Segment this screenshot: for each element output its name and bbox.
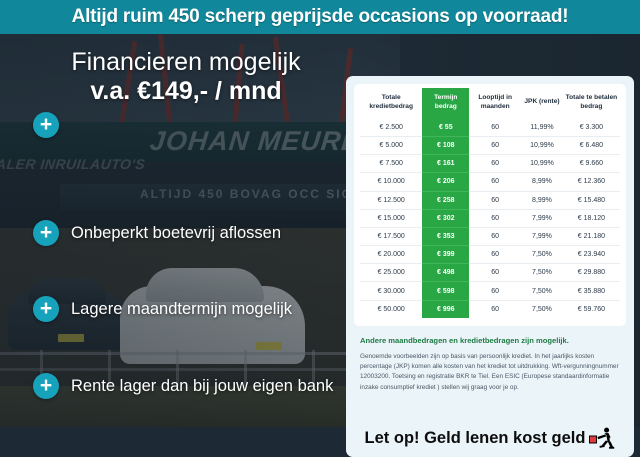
table-cell: € 59.760 — [563, 300, 620, 318]
table-cell: 7,50% — [521, 264, 563, 282]
finance-rates-table: Totale kredietbedrag Termijn bedrag Loop… — [360, 88, 620, 318]
running-man-icon — [589, 427, 615, 449]
banner-text: Altijd ruim 450 scherp geprijsde occasio… — [72, 6, 569, 28]
table-cell-highlighted: € 498 — [422, 264, 469, 282]
table-cell: 60 — [469, 246, 521, 264]
table-cell: 60 — [469, 155, 521, 173]
credit-warning: Let op! Geld lenen kost geld — [346, 427, 634, 449]
table-cell: € 12.500 — [360, 191, 422, 209]
disclaimer-section: Andere maandbedragen en kredietbedragen … — [354, 326, 626, 393]
plus-glyph: + — [40, 114, 52, 135]
table-row: € 20.000€ 399607,50%€ 23.940 — [360, 246, 620, 264]
promo-bullet-3: + Rente lager dan bij jouw eigen bank — [33, 373, 343, 399]
table-cell: € 29.880 — [563, 264, 620, 282]
table-cell: 60 — [469, 136, 521, 154]
table-header-cell: Totale kredietbedrag — [360, 88, 422, 119]
table-cell-highlighted: € 108 — [422, 136, 469, 154]
finance-info-panel: Totale kredietbedrag Termijn bedrag Loop… — [346, 76, 634, 457]
credit-warning-text: Let op! Geld lenen kost geld — [365, 429, 586, 448]
table-cell: € 15.480 — [563, 191, 620, 209]
table-row: € 7.500€ 1616010,99%€ 9.660 — [360, 155, 620, 173]
table-row: € 10.000€ 206608,99%€ 12.360 — [360, 173, 620, 191]
table-cell-highlighted: € 161 — [422, 155, 469, 173]
table-cell: 60 — [469, 264, 521, 282]
plus-icon: + — [33, 112, 59, 138]
plus-icon: + — [33, 220, 59, 246]
table-header-cell: Looptijd in maanden — [469, 88, 521, 119]
promo-left-column: + Financieren mogelijk v.a. €149,- / mnd… — [0, 34, 350, 427]
top-promo-banner: Altijd ruim 450 scherp geprijsde occasio… — [0, 0, 640, 34]
disclaimer-body: Genoemde voorbeelden zijn op basis van p… — [360, 352, 620, 394]
table-cell: 8,99% — [521, 191, 563, 209]
table-cell: 8,99% — [521, 173, 563, 191]
table-row: € 30.000€ 598607,50%€ 35.880 — [360, 282, 620, 300]
table-cell: € 21.180 — [563, 227, 620, 245]
table-cell: 11,99% — [521, 119, 563, 137]
table-cell: 60 — [469, 191, 521, 209]
table-cell: € 7.500 — [360, 155, 422, 173]
table-cell: 60 — [469, 227, 521, 245]
promo-bullet-label: Lagere maandtermijn mogelijk — [71, 300, 292, 319]
table-cell: 7,50% — [521, 300, 563, 318]
table-cell: 60 — [469, 119, 521, 137]
table-cell: € 15.000 — [360, 209, 422, 227]
table-cell-highlighted: € 399 — [422, 246, 469, 264]
table-cell: € 30.000 — [360, 282, 422, 300]
table-cell: 10,99% — [521, 136, 563, 154]
promo-bullet-2: + Lagere maandtermijn mogelijk — [33, 296, 343, 322]
table-cell: 7,50% — [521, 282, 563, 300]
table-cell: € 2.500 — [360, 119, 422, 137]
table-header-cell: Totale te betalen bedrag — [563, 88, 620, 119]
table-cell: € 18.120 — [563, 209, 620, 227]
main-content-area: JOHAN MEURE ALER INRUILAUTO'S ALTIJD 450… — [0, 34, 640, 427]
plus-icon: + — [33, 296, 59, 322]
table-cell: € 23.940 — [563, 246, 620, 264]
promo-headline-line2: v.a. €149,- / mnd — [32, 76, 340, 106]
finance-table-card: Totale kredietbedrag Termijn bedrag Loop… — [354, 84, 626, 326]
table-cell-highlighted: € 206 — [422, 173, 469, 191]
table-cell: € 50.000 — [360, 300, 422, 318]
disclaimer-title: Andere maandbedragen en kredietbedragen … — [360, 336, 620, 346]
table-cell-highlighted: € 258 — [422, 191, 469, 209]
table-row: € 15.000€ 302607,99%€ 18.120 — [360, 209, 620, 227]
table-header-cell-highlighted: Termijn bedrag — [422, 88, 469, 119]
promo-bullet-label: Rente lager dan bij jouw eigen bank — [71, 377, 333, 396]
plus-glyph: + — [40, 375, 52, 396]
promo-bullet-label: Onbeperkt boetevrij aflossen — [71, 224, 281, 243]
table-cell: 60 — [469, 300, 521, 318]
table-row: € 25.000€ 498607,50%€ 29.880 — [360, 264, 620, 282]
table-cell: € 6.480 — [563, 136, 620, 154]
table-cell-highlighted: € 353 — [422, 227, 469, 245]
table-cell: 7,99% — [521, 227, 563, 245]
promo-bullet-1: + Onbeperkt boetevrij aflossen — [33, 220, 343, 246]
table-row: € 5.000€ 1086010,99%€ 6.480 — [360, 136, 620, 154]
table-cell: € 17.500 — [360, 227, 422, 245]
table-cell: € 10.000 — [360, 173, 422, 191]
table-cell: € 5.000 — [360, 136, 422, 154]
table-row: € 12.500€ 258608,99%€ 15.480 — [360, 191, 620, 209]
table-cell: 60 — [469, 282, 521, 300]
table-cell: 7,50% — [521, 246, 563, 264]
plus-glyph: + — [40, 222, 52, 243]
table-cell: 60 — [469, 173, 521, 191]
table-row: € 50.000€ 996607,50%€ 59.760 — [360, 300, 620, 318]
table-row: € 17.500€ 353607,99%€ 21.180 — [360, 227, 620, 245]
plus-glyph: + — [40, 298, 52, 319]
table-cell: 10,99% — [521, 155, 563, 173]
promo-headline: Financieren mogelijk v.a. €149,- / mnd — [32, 48, 340, 106]
table-cell-highlighted: € 996 — [422, 300, 469, 318]
table-cell-highlighted: € 55 — [422, 119, 469, 137]
table-cell: € 12.360 — [563, 173, 620, 191]
table-cell: € 35.880 — [563, 282, 620, 300]
table-cell: € 9.660 — [563, 155, 620, 173]
table-cell: 60 — [469, 209, 521, 227]
table-cell-highlighted: € 302 — [422, 209, 469, 227]
table-cell-highlighted: € 598 — [422, 282, 469, 300]
table-cell: € 25.000 — [360, 264, 422, 282]
table-header-row: Totale kredietbedrag Termijn bedrag Loop… — [360, 88, 620, 119]
table-row: € 2.500€ 556011,99%€ 3.300 — [360, 119, 620, 137]
finance-table-body: € 2.500€ 556011,99%€ 3.300€ 5.000€ 10860… — [360, 119, 620, 318]
table-cell: 7,99% — [521, 209, 563, 227]
table-cell: € 3.300 — [563, 119, 620, 137]
table-header-cell: JPK (rente) — [521, 88, 563, 119]
promo-headline-line1: Financieren mogelijk — [32, 48, 340, 76]
table-cell: € 20.000 — [360, 246, 422, 264]
plus-icon: + — [33, 373, 59, 399]
